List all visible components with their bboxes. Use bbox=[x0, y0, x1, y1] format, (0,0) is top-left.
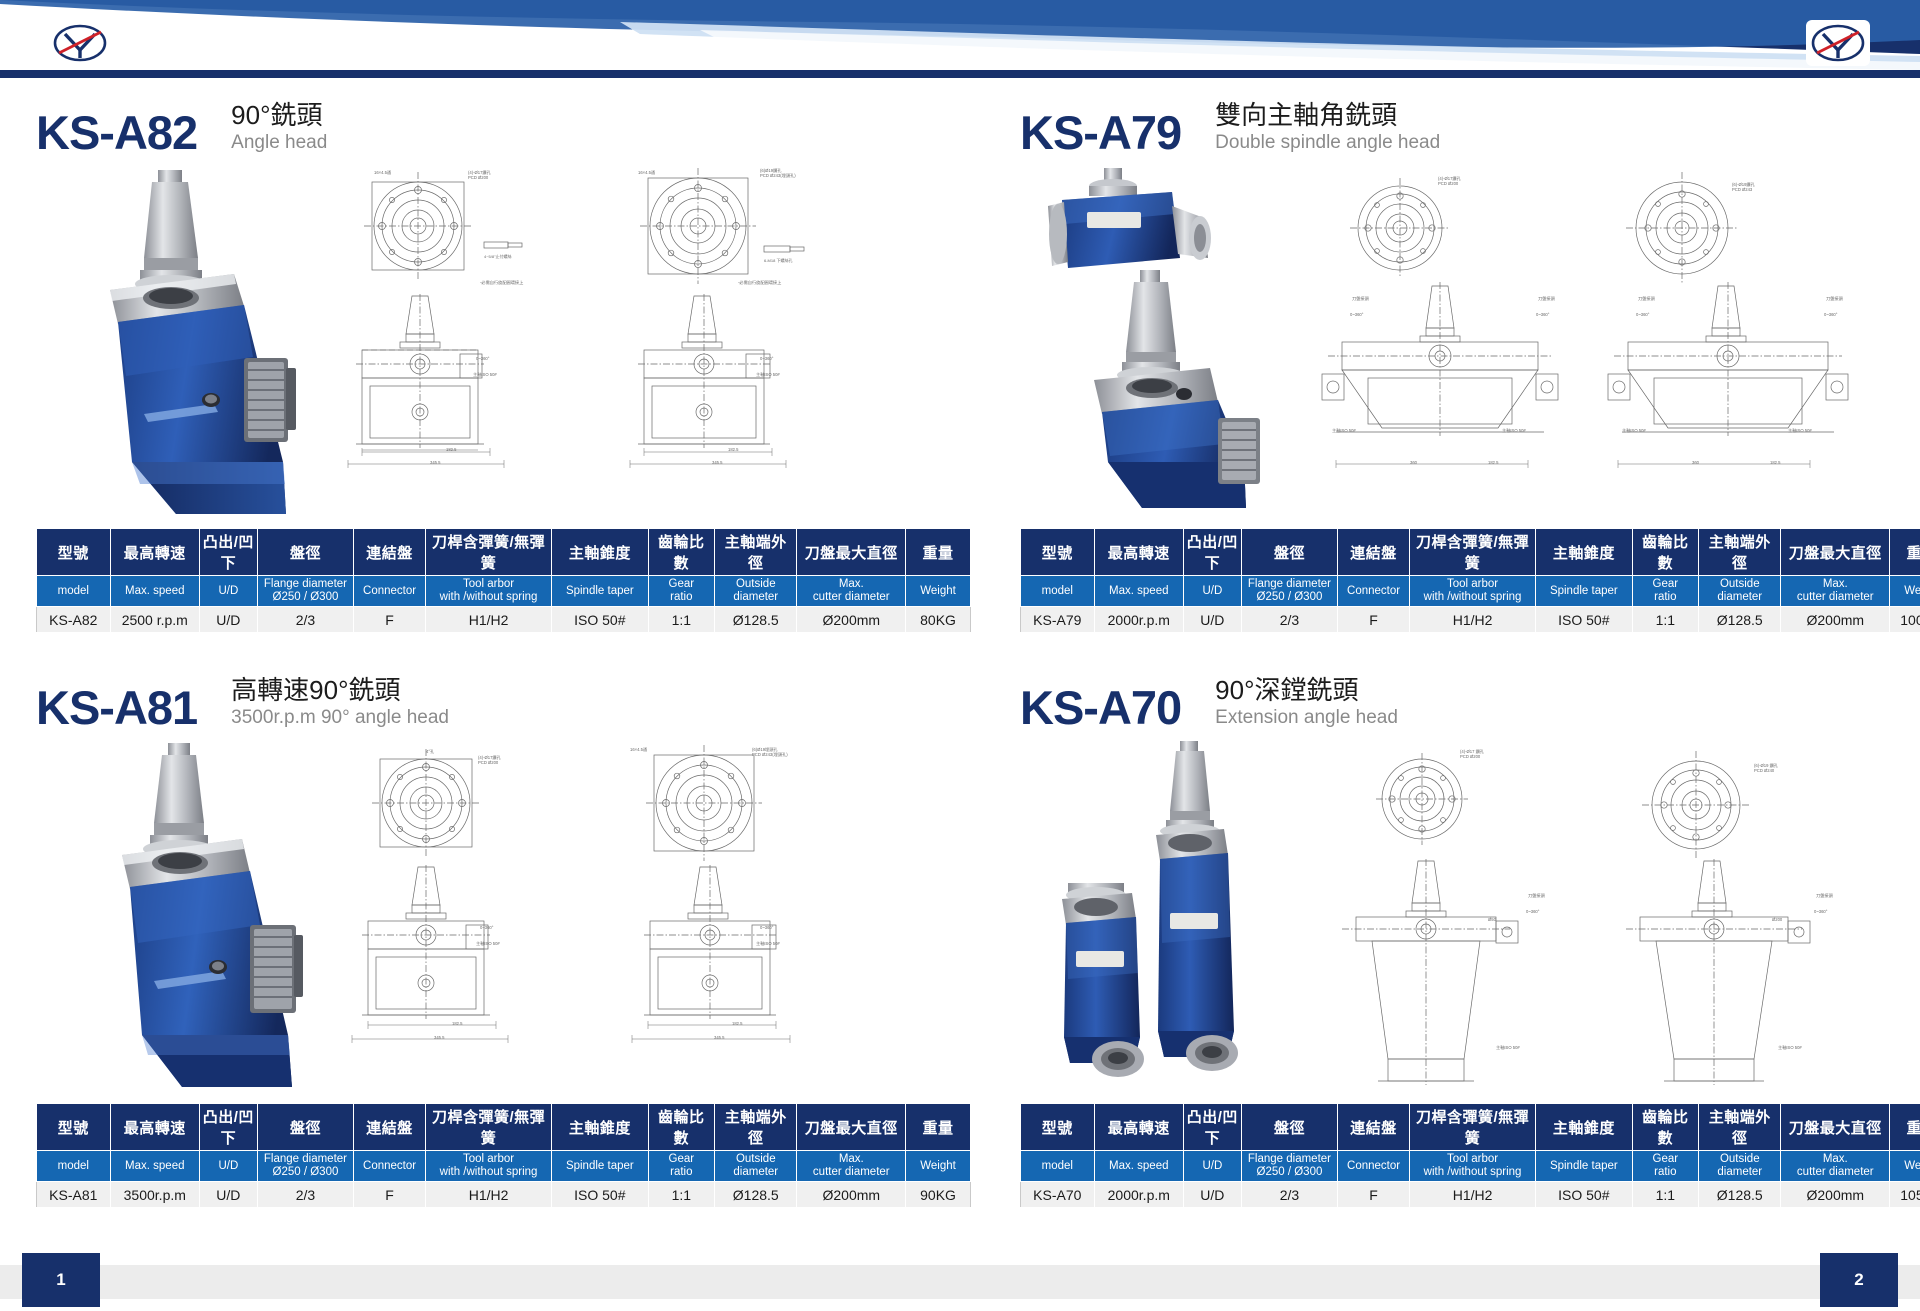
svg-text:主軸ISO 50#: 主軸ISO 50# bbox=[1332, 427, 1356, 434]
product-media: (4)-Ø17鑽孔PCD Ø200 (6)-Ø19鑽孔PCD Ø243 刀盤接頭… bbox=[1020, 162, 1920, 522]
cell-model: KS-A82 bbox=[37, 607, 111, 633]
banner-graphic bbox=[0, 0, 1920, 78]
product-photo bbox=[48, 162, 303, 517]
header-en-weight: Weight bbox=[1890, 576, 1920, 607]
svg-text:6-M18 下螺絲孔: 6-M18 下螺絲孔 bbox=[764, 257, 792, 263]
header-cn-max-cutter: 刀盤最大直徑 bbox=[797, 529, 906, 576]
product-names: 90°銑頭 Angle head bbox=[231, 101, 327, 156]
spec-header-cn: 型號 最高轉速 凸出/凹下 盤徑 連結盤 刀桿含彈簧/無彈簧 主軸錐度 齒輪比數… bbox=[1021, 529, 1920, 576]
header-en-outside-diameter: Outsidediameter bbox=[1699, 1151, 1781, 1182]
cell-outside-diameter: Ø128.5 bbox=[1699, 607, 1781, 633]
product-name-cn: 90°深鏜銑頭 bbox=[1215, 676, 1398, 705]
product-names: 90°深鏜銑頭 Extension angle head bbox=[1215, 676, 1398, 731]
header-cn-spindle-taper: 主軸錐度 bbox=[1536, 529, 1632, 576]
header-en-model: model bbox=[1021, 1151, 1095, 1182]
svg-text:182.5: 182.5 bbox=[446, 447, 457, 452]
header-en-weight: Weight bbox=[1890, 1151, 1920, 1182]
header-cn-max-cutter: 刀盤最大直徑 bbox=[1781, 1104, 1890, 1151]
cell-flange: 2/3 bbox=[1241, 607, 1337, 633]
cell-connector: F bbox=[354, 1182, 426, 1208]
cell-gear-ratio: 1:1 bbox=[648, 607, 715, 633]
header-en-ud: U/D bbox=[1183, 576, 1241, 607]
header-cn-max-speed: 最高轉速 bbox=[110, 1104, 199, 1151]
spec-table: 型號 最高轉速 凸出/凹下 盤徑 連結盤 刀桿含彈簧/無彈簧 主軸錐度 齒輪比數… bbox=[1020, 1103, 1920, 1208]
spec-row: KS-A82 2500 r.p.m U/D 2/3 F H1/H2 ISO 50… bbox=[37, 607, 971, 633]
header-cn-flange: 盤徑 bbox=[1241, 1104, 1337, 1151]
product-names: 雙向主軸角銑頭 Double spindle angle head bbox=[1215, 101, 1440, 156]
svg-text:16×4.5通: 16×4.5通 bbox=[374, 169, 392, 176]
svg-text:4~5/8"止付螺絲: 4~5/8"止付螺絲 bbox=[484, 253, 512, 259]
header-cn-ud: 凸出/凹下 bbox=[199, 529, 257, 576]
svg-text:16×4.5通: 16×4.5通 bbox=[630, 746, 648, 753]
cell-outside-diameter: Ø128.5 bbox=[715, 1182, 797, 1208]
svg-text:16×4.5通: 16×4.5通 bbox=[638, 169, 656, 176]
header-cn-gear-ratio: 齒輪比數 bbox=[1632, 1104, 1699, 1151]
svg-text:主軸ISO 50#: 主軸ISO 50# bbox=[1496, 1044, 1520, 1051]
cell-connector: F bbox=[354, 607, 426, 633]
header-cn-flange: 盤徑 bbox=[1241, 529, 1337, 576]
header-en-flange: Flange diameterØ250 / Ø300 bbox=[1241, 1151, 1337, 1182]
cell-model: KS-A79 bbox=[1021, 607, 1095, 633]
cell-outside-diameter: Ø128.5 bbox=[715, 607, 797, 633]
header-en-spindle-taper: Spindle taper bbox=[552, 576, 648, 607]
header-cn-weight: 重量 bbox=[1890, 1104, 1920, 1151]
product-name-en: Extension angle head bbox=[1215, 707, 1398, 729]
header-cn-ud: 凸出/凹下 bbox=[1183, 1104, 1241, 1151]
svg-text:Ø200: Ø200 bbox=[1772, 917, 1783, 922]
svg-text:主軸ISO 50#: 主軸ISO 50# bbox=[1502, 427, 1526, 434]
svg-text:0~360°: 0~360° bbox=[480, 925, 494, 930]
product-media: 16×4.5通(4)-Ø17鑽孔PCD Ø200 16×4.5通(6)Ø19鑽孔… bbox=[36, 162, 971, 522]
header-cn-model: 型號 bbox=[37, 1104, 111, 1151]
cell-flange: 2/3 bbox=[257, 1182, 353, 1208]
svg-text:刀盤接頭: 刀盤接頭 bbox=[1816, 892, 1834, 899]
cell-spindle-taper: ISO 50# bbox=[552, 607, 648, 633]
product-name-en: 3500r.p.m 90° angle head bbox=[231, 707, 449, 729]
cell-max-speed: 2000r.p.m bbox=[1094, 1182, 1183, 1208]
product-code: KS-A81 bbox=[36, 684, 197, 731]
header-cn-weight: 重量 bbox=[906, 1104, 971, 1151]
spec-header-en: model Max. speed U/D Flange diameterØ250… bbox=[37, 576, 971, 607]
product-name-cn: 高轉速90°銑頭 bbox=[231, 676, 449, 705]
header-en-spindle-taper: Spindle taper bbox=[552, 1151, 648, 1182]
header-cn-outside-diameter: 主軸端外徑 bbox=[1699, 529, 1781, 576]
header-cn-tool-arbor: 刀桿含彈簧/無彈簧 bbox=[425, 529, 551, 576]
header-cn-flange: 盤徑 bbox=[257, 529, 353, 576]
product-heading: KS-A70 90°深鏜銑頭 Extension angle head bbox=[1020, 663, 1920, 731]
header-cn-max-cutter: 刀盤最大直徑 bbox=[797, 1104, 906, 1151]
technical-drawing: (4)-Ø17鑽孔PCD Ø200 (6)-Ø19鑽孔PCD Ø243 刀盤接頭… bbox=[1292, 164, 1920, 516]
spec-header-cn: 型號 最高轉速 凸出/凹下 盤徑 連結盤 刀桿含彈簧/無彈簧 主軸錐度 齒輪比數… bbox=[37, 529, 971, 576]
header-en-weight: Weight bbox=[906, 1151, 971, 1182]
spec-row: KS-A81 3500r.p.m U/D 2/3 F H1/H2 ISO 50#… bbox=[37, 1182, 971, 1208]
svg-text:0~360°: 0~360° bbox=[760, 925, 774, 930]
product-photo bbox=[48, 737, 303, 1092]
product-media: 4°孔(4)-Ø17鑽孔PCD Ø200 16×4.5通(6)Ø19埋頭孔PCD… bbox=[36, 737, 971, 1097]
header-cn-tool-arbor: 刀桿含彈簧/無彈簧 bbox=[1409, 1104, 1535, 1151]
header-en-max-cutter: Max.cutter diameter bbox=[797, 576, 906, 607]
header-en-max-speed: Max. speed bbox=[1094, 576, 1183, 607]
header-en-max-speed: Max. speed bbox=[110, 1151, 199, 1182]
cell-gear-ratio: 1:1 bbox=[1632, 1182, 1699, 1208]
header-cn-gear-ratio: 齒輪比數 bbox=[648, 1104, 715, 1151]
cell-gear-ratio: 1:1 bbox=[648, 1182, 715, 1208]
header-en-tool-arbor: Tool arborwith /without spring bbox=[1409, 1151, 1535, 1182]
cell-model: KS-A81 bbox=[37, 1182, 111, 1208]
header-cn-model: 型號 bbox=[1021, 529, 1095, 576]
svg-text:刀盤接頭: 刀盤接頭 bbox=[1352, 295, 1370, 302]
spec-header-cn: 型號 最高轉速 凸出/凹下 盤徑 連結盤 刀桿含彈簧/無彈簧 主軸錐度 齒輪比數… bbox=[1021, 1104, 1920, 1151]
page-footer: 1 2 bbox=[0, 1253, 1920, 1311]
cell-max-speed: 2500 r.p.m bbox=[110, 607, 199, 633]
header-cn-tool-arbor: 刀桿含彈簧/無彈簧 bbox=[425, 1104, 551, 1151]
header-en-gear-ratio: Gearratio bbox=[648, 1151, 715, 1182]
svg-text:PCD Ø243: PCD Ø243 bbox=[1732, 187, 1753, 192]
svg-text:0~360°: 0~360° bbox=[1350, 312, 1364, 317]
header-en-max-cutter: Max.cutter diameter bbox=[797, 1151, 906, 1182]
cell-spindle-taper: ISO 50# bbox=[552, 1182, 648, 1208]
svg-text:PCD Ø200: PCD Ø200 bbox=[1438, 181, 1459, 186]
header-cn-max-speed: 最高轉速 bbox=[1094, 1104, 1183, 1151]
cell-tool-arbor: H1/H2 bbox=[1409, 607, 1535, 633]
company-logo-right bbox=[1806, 20, 1870, 66]
header-cn-max-speed: 最高轉速 bbox=[1094, 529, 1183, 576]
cell-max-cutter: Ø200mm bbox=[1781, 607, 1890, 633]
spec-table: 型號 最高轉速 凸出/凹下 盤徑 連結盤 刀桿含彈簧/無彈簧 主軸錐度 齒輪比數… bbox=[36, 528, 971, 633]
header-en-max-speed: Max. speed bbox=[110, 576, 199, 607]
svg-text:Ø50: Ø50 bbox=[1488, 917, 1497, 922]
svg-text:4°孔: 4°孔 bbox=[426, 748, 435, 755]
svg-text:刀盤接頭: 刀盤接頭 bbox=[1538, 295, 1556, 302]
cell-flange: 2/3 bbox=[1241, 1182, 1337, 1208]
product-name-en: Double spindle angle head bbox=[1215, 132, 1440, 154]
header-cn-spindle-taper: 主軸錐度 bbox=[552, 1104, 648, 1151]
product-code: KS-A70 bbox=[1020, 684, 1181, 731]
cell-spindle-taper: ISO 50# bbox=[1536, 1182, 1632, 1208]
svg-text:PCD Ø240: PCD Ø240 bbox=[1754, 768, 1775, 773]
technical-drawing: (4)-Ø17 鑽孔PCD Ø200 (6)-Ø19 鑽孔PCD Ø240 刀盤… bbox=[1292, 739, 1920, 1091]
svg-text:0~360°: 0~360° bbox=[1526, 909, 1540, 914]
header-cn-connector: 連結盤 bbox=[354, 529, 426, 576]
header-cn-weight: 重量 bbox=[1890, 529, 1920, 576]
svg-text:-必需自行旋配圓環接上: -必需自行旋配圓環接上 bbox=[738, 279, 781, 286]
svg-text:主軸ISO 50#: 主軸ISO 50# bbox=[1778, 1044, 1802, 1051]
product-name-cn: 雙向主軸角銑頭 bbox=[1215, 101, 1440, 130]
spec-table: 型號 最高轉速 凸出/凹下 盤徑 連結盤 刀桿含彈簧/無彈簧 主軸錐度 齒輪比數… bbox=[36, 1103, 971, 1208]
product-code: KS-A79 bbox=[1020, 109, 1181, 156]
cell-weight: 90KG bbox=[906, 1182, 971, 1208]
cell-gear-ratio: 1:1 bbox=[1632, 607, 1699, 633]
header-en-gear-ratio: Gearratio bbox=[1632, 1151, 1699, 1182]
header-cn-connector: 連結盤 bbox=[354, 1104, 426, 1151]
svg-text:PCD Ø200: PCD Ø200 bbox=[478, 760, 499, 765]
header-en-connector: Connector bbox=[1338, 576, 1410, 607]
product-name-en: Angle head bbox=[231, 132, 327, 154]
header-en-max-cutter: Max.cutter diameter bbox=[1781, 576, 1890, 607]
header-en-outside-diameter: Outsidediameter bbox=[715, 1151, 797, 1182]
header-en-ud: U/D bbox=[199, 576, 257, 607]
header-en-spindle-taper: Spindle taper bbox=[1536, 576, 1632, 607]
product-block-ks-a79: KS-A79 雙向主軸角銑頭 Double spindle angle head bbox=[1020, 88, 1920, 633]
header-en-ud: U/D bbox=[1183, 1151, 1241, 1182]
header-en-max-cutter: Max.cutter diameter bbox=[1781, 1151, 1890, 1182]
header-cn-gear-ratio: 齒輪比數 bbox=[1632, 529, 1699, 576]
header-en-flange: Flange diameterØ250 / Ø300 bbox=[257, 576, 353, 607]
svg-text:0~360°: 0~360° bbox=[1824, 312, 1838, 317]
product-block-ks-a70: KS-A70 90°深鏜銑頭 Extension angle head bbox=[1020, 663, 1920, 1208]
header-cn-model: 型號 bbox=[1021, 1104, 1095, 1151]
svg-text:刀盤接頭: 刀盤接頭 bbox=[1826, 295, 1844, 302]
cell-weight: 100KG bbox=[1890, 607, 1920, 633]
cell-ud: U/D bbox=[199, 607, 257, 633]
cell-ud: U/D bbox=[1183, 1182, 1241, 1208]
header-en-connector: Connector bbox=[354, 576, 426, 607]
company-logo-left bbox=[48, 20, 112, 66]
cell-connector: F bbox=[1338, 607, 1410, 633]
svg-text:主軸ISO 50#: 主軸ISO 50# bbox=[756, 371, 780, 378]
svg-text:0~360°: 0~360° bbox=[1814, 909, 1828, 914]
product-heading: KS-A81 高轉速90°銑頭 3500r.p.m 90° angle head bbox=[36, 663, 971, 731]
header-en-connector: Connector bbox=[1338, 1151, 1410, 1182]
svg-text:PCD Ø243(埋頭孔): PCD Ø243(埋頭孔) bbox=[760, 172, 796, 179]
cell-max-cutter: Ø200mm bbox=[1781, 1182, 1890, 1208]
svg-text:182.5: 182.5 bbox=[728, 447, 739, 452]
svg-text:0~360°: 0~360° bbox=[1636, 312, 1650, 317]
header-en-flange: Flange diameterØ250 / Ø300 bbox=[257, 1151, 353, 1182]
technical-drawing: 4°孔(4)-Ø17鑽孔PCD Ø200 16×4.5通(6)Ø19埋頭孔PCD… bbox=[308, 739, 968, 1091]
company-logo-icon bbox=[52, 23, 108, 63]
product-heading: KS-A79 雙向主軸角銑頭 Double spindle angle head bbox=[1020, 88, 1920, 156]
header-en-connector: Connector bbox=[354, 1151, 426, 1182]
header-en-tool-arbor: Tool arborwith /without spring bbox=[425, 1151, 551, 1182]
svg-text:主軸ISO 50#: 主軸ISO 50# bbox=[1622, 427, 1646, 434]
product-code: KS-A82 bbox=[36, 109, 197, 156]
product-photo bbox=[1032, 737, 1287, 1092]
product-names: 高轉速90°銑頭 3500r.p.m 90° angle head bbox=[231, 676, 449, 731]
header-en-weight: Weight bbox=[906, 576, 971, 607]
cell-tool-arbor: H1/H2 bbox=[425, 607, 551, 633]
header-en-flange: Flange diameterØ250 / Ø300 bbox=[1241, 576, 1337, 607]
header-cn-max-speed: 最高轉速 bbox=[110, 529, 199, 576]
svg-text:主軸ISO 50#: 主軸ISO 50# bbox=[473, 371, 497, 378]
header-cn-outside-diameter: 主軸端外徑 bbox=[1699, 1104, 1781, 1151]
header-cn-max-cutter: 刀盤最大直徑 bbox=[1781, 529, 1890, 576]
header-en-gear-ratio: Gearratio bbox=[648, 576, 715, 607]
cell-outside-diameter: Ø128.5 bbox=[1699, 1182, 1781, 1208]
header-en-max-speed: Max. speed bbox=[1094, 1151, 1183, 1182]
svg-text:0~360°: 0~360° bbox=[1536, 312, 1550, 317]
svg-text:0~360°: 0~360° bbox=[760, 356, 774, 361]
header-cn-model: 型號 bbox=[37, 529, 111, 576]
header-cn-connector: 連結盤 bbox=[1338, 529, 1410, 576]
header-cn-weight: 重量 bbox=[906, 529, 971, 576]
header-cn-ud: 凸出/凹下 bbox=[199, 1104, 257, 1151]
cell-weight: 105KG bbox=[1890, 1182, 1920, 1208]
spec-table: 型號 最高轉速 凸出/凹下 盤徑 連結盤 刀桿含彈簧/無彈簧 主軸錐度 齒輪比數… bbox=[1020, 528, 1920, 633]
header-en-spindle-taper: Spindle taper bbox=[1536, 1151, 1632, 1182]
footer-bar bbox=[0, 1265, 1920, 1299]
cell-tool-arbor: H1/H2 bbox=[1409, 1182, 1535, 1208]
cell-ud: U/D bbox=[199, 1182, 257, 1208]
product-name-cn: 90°銑頭 bbox=[231, 101, 327, 130]
svg-text:-必需自行旋配圓環接上: -必需自行旋配圓環接上 bbox=[480, 279, 523, 286]
product-block-ks-a82: KS-A82 90°銑頭 Angle head bbox=[36, 88, 971, 633]
header-en-tool-arbor: Tool arborwith /without spring bbox=[1409, 576, 1535, 607]
spec-header-en: model Max. speed U/D Flange diameterØ250… bbox=[37, 1151, 971, 1182]
spec-row: KS-A79 2000r.p.m U/D 2/3 F H1/H2 ISO 50#… bbox=[1021, 607, 1920, 633]
svg-text:主軸ISO 50#: 主軸ISO 50# bbox=[756, 940, 780, 947]
product-block-ks-a81: KS-A81 高轉速90°銑頭 3500r.p.m 90° angle head bbox=[36, 663, 971, 1208]
header-en-outside-diameter: Outsidediameter bbox=[1699, 576, 1781, 607]
svg-text:刀盤接頭: 刀盤接頭 bbox=[1528, 892, 1546, 899]
header-en-ud: U/D bbox=[199, 1151, 257, 1182]
product-heading: KS-A82 90°銑頭 Angle head bbox=[36, 88, 971, 156]
svg-text:主軸ISO 50#: 主軸ISO 50# bbox=[1788, 427, 1812, 434]
technical-drawing: 16×4.5通(4)-Ø17鑽孔PCD Ø200 16×4.5通(6)Ø19鑽孔… bbox=[308, 164, 968, 516]
header-en-gear-ratio: Gearratio bbox=[1632, 576, 1699, 607]
cell-ud: U/D bbox=[1183, 607, 1241, 633]
header-cn-connector: 連結盤 bbox=[1338, 1104, 1410, 1151]
header-en-model: model bbox=[37, 1151, 111, 1182]
header-cn-gear-ratio: 齒輪比數 bbox=[648, 529, 715, 576]
spec-header-en: model Max. speed U/D Flange diameterØ250… bbox=[1021, 576, 1920, 607]
cell-max-cutter: Ø200mm bbox=[797, 1182, 906, 1208]
header-cn-outside-diameter: 主軸端外徑 bbox=[715, 1104, 797, 1151]
header-cn-spindle-taper: 主軸錐度 bbox=[1536, 1104, 1632, 1151]
cell-max-speed: 2000r.p.m bbox=[1094, 607, 1183, 633]
header-en-model: model bbox=[37, 576, 111, 607]
page-number-right: 2 bbox=[1820, 1253, 1898, 1307]
cell-flange: 2/3 bbox=[257, 607, 353, 633]
cell-connector: F bbox=[1338, 1182, 1410, 1208]
company-logo-icon bbox=[1810, 23, 1866, 63]
cell-tool-arbor: H1/H2 bbox=[425, 1182, 551, 1208]
svg-text:PCD Ø200: PCD Ø200 bbox=[468, 175, 489, 180]
header-en-tool-arbor: Tool arborwith /without spring bbox=[425, 576, 551, 607]
spec-row: KS-A70 2000r.p.m U/D 2/3 F H1/H2 ISO 50#… bbox=[1021, 1182, 1920, 1208]
cell-spindle-taper: ISO 50# bbox=[1536, 607, 1632, 633]
page-banner bbox=[0, 0, 1920, 78]
header-cn-spindle-taper: 主軸錐度 bbox=[552, 529, 648, 576]
header-cn-flange: 盤徑 bbox=[257, 1104, 353, 1151]
header-en-model: model bbox=[1021, 576, 1095, 607]
header-cn-outside-diameter: 主軸端外徑 bbox=[715, 529, 797, 576]
cell-max-speed: 3500r.p.m bbox=[110, 1182, 199, 1208]
catalog-page: KS-A82 90°銑頭 Angle head bbox=[0, 78, 1920, 1248]
svg-text:PCD Ø200: PCD Ø200 bbox=[1460, 754, 1481, 759]
product-media: (4)-Ø17 鑽孔PCD Ø200 (6)-Ø19 鑽孔PCD Ø240 刀盤… bbox=[1020, 737, 1920, 1097]
cell-max-cutter: Ø200mm bbox=[797, 607, 906, 633]
product-photo bbox=[1032, 162, 1287, 517]
spec-header-en: model Max. speed U/D Flange diameterØ250… bbox=[1021, 1151, 1920, 1182]
header-cn-tool-arbor: 刀桿含彈簧/無彈簧 bbox=[1409, 529, 1535, 576]
cell-weight: 80KG bbox=[906, 607, 971, 633]
header-cn-ud: 凸出/凹下 bbox=[1183, 529, 1241, 576]
svg-text:PCD Ø243(埋頭孔): PCD Ø243(埋頭孔) bbox=[752, 751, 788, 758]
spec-header-cn: 型號 最高轉速 凸出/凹下 盤徑 連結盤 刀桿含彈簧/無彈簧 主軸錐度 齒輪比數… bbox=[37, 1104, 971, 1151]
svg-text:刀盤接頭: 刀盤接頭 bbox=[1638, 295, 1656, 302]
cell-model: KS-A70 bbox=[1021, 1182, 1095, 1208]
header-en-outside-diameter: Outsidediameter bbox=[715, 576, 797, 607]
page-number-left: 1 bbox=[22, 1253, 100, 1307]
